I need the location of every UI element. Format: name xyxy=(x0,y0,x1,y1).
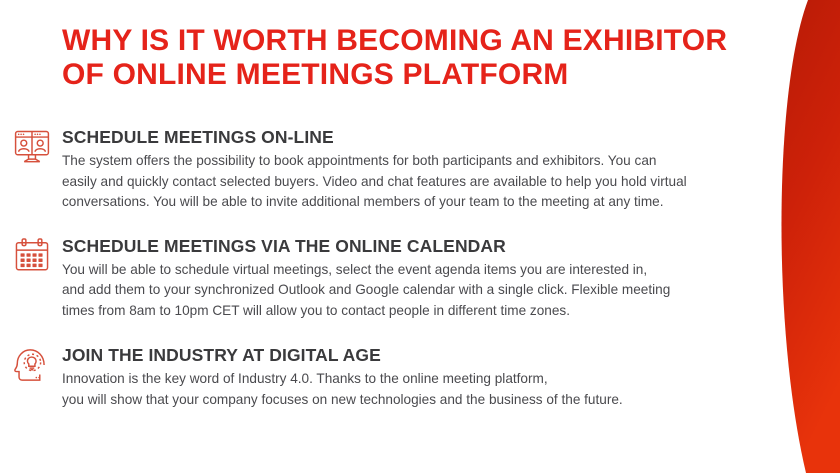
video-meeting-monitor-icon xyxy=(10,126,54,170)
feature-section-online-calendar: SCHEDULE MEETINGS VIA THE ONLINE CALENDA… xyxy=(0,235,840,322)
feature-section-body: SCHEDULE MEETINGS ON-LINE The system off… xyxy=(54,126,840,213)
paragraph-line: easily and quickly contact selected buye… xyxy=(62,172,762,193)
paragraph-line: You will be able to schedule virtual mee… xyxy=(62,260,762,281)
section-paragraph: The system offers the possibility to boo… xyxy=(62,151,762,213)
section-heading: SCHEDULE MEETINGS VIA THE ONLINE CALENDA… xyxy=(62,235,780,257)
head-lightbulb-idea-icon xyxy=(10,344,54,388)
section-heading: JOIN THE INDUSTRY AT DIGITAL AGE xyxy=(62,344,780,366)
calendar-icon xyxy=(10,235,54,279)
section-paragraph: Innovation is the key word of Industry 4… xyxy=(62,369,762,410)
section-paragraph: You will be able to schedule virtual mee… xyxy=(62,260,762,322)
feature-section-body: JOIN THE INDUSTRY AT DIGITAL AGE Innovat… xyxy=(54,344,840,410)
title-line-1: WHY IS IT WORTH BECOMING AN EXHIBITOR xyxy=(62,24,742,58)
title-line-2: OF ONLINE MEETINGS PLATFORM xyxy=(62,58,742,92)
feature-section-body: SCHEDULE MEETINGS VIA THE ONLINE CALENDA… xyxy=(54,235,840,322)
paragraph-line: Innovation is the key word of Industry 4… xyxy=(62,369,762,390)
feature-section-digital-age: JOIN THE INDUSTRY AT DIGITAL AGE Innovat… xyxy=(0,344,840,410)
paragraph-line: times from 8am to 10pm CET will allow yo… xyxy=(62,301,762,322)
paragraph-line: and add them to your synchronized Outloo… xyxy=(62,280,762,301)
feature-section-schedule-meetings-online: SCHEDULE MEETINGS ON-LINE The system off… xyxy=(0,126,840,213)
paragraph-line: The system offers the possibility to boo… xyxy=(62,151,762,172)
paragraph-line: you will show that your company focuses … xyxy=(62,390,762,411)
slide-canvas: WHY IS IT WORTH BECOMING AN EXHIBITOR OF… xyxy=(0,0,840,473)
feature-sections: SCHEDULE MEETINGS ON-LINE The system off… xyxy=(0,126,840,410)
section-heading: SCHEDULE MEETINGS ON-LINE xyxy=(62,126,780,148)
paragraph-line: conversations. You will be able to invit… xyxy=(62,192,762,213)
slide-title: WHY IS IT WORTH BECOMING AN EXHIBITOR OF… xyxy=(62,24,742,92)
